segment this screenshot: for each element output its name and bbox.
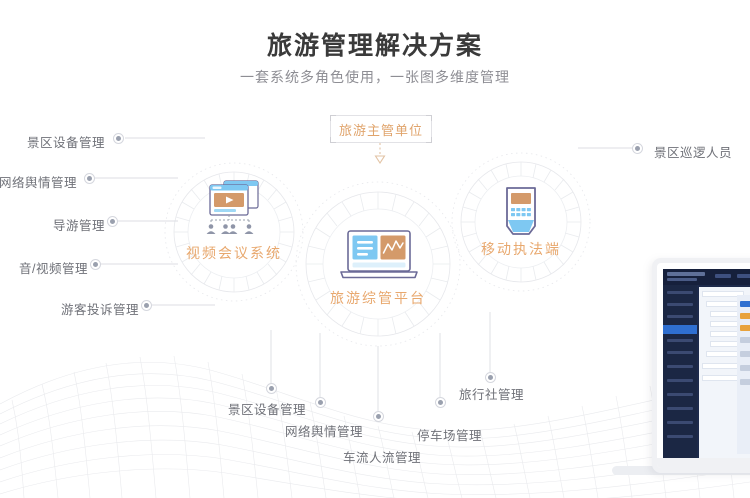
node-label-left-3: 音/视频管理 (4, 258, 88, 277)
node-label-left-4: 游客投诉管理 (54, 299, 139, 318)
node-label-bottom-0: 景区设备管理 (228, 399, 306, 418)
node-dot-bottom-0[interactable] (266, 383, 277, 394)
dashboard-device-mockup (652, 258, 750, 473)
device-status-chip-2 (740, 313, 750, 319)
device-sidebar-item-10 (667, 421, 693, 424)
node-dot-right-0[interactable] (632, 143, 643, 154)
node-label-left-1: 网络舆情管理 (0, 172, 77, 191)
node-label-bottom-3: 停车场管理 (417, 425, 482, 444)
device-status-chip-3 (740, 325, 750, 331)
mobile-device-icon (499, 186, 543, 240)
box-corner-bottom-left (330, 137, 336, 143)
device-sidebar-item-6 (667, 365, 693, 368)
device-status-chip-6 (740, 365, 750, 371)
device-sidebar-item-7 (667, 379, 693, 382)
node-dot-bottom-3[interactable] (435, 397, 446, 408)
device-sidebar-item-5 (667, 351, 693, 354)
node-dot-bottom-2[interactable] (373, 411, 384, 422)
node-label-left-0: 景区设备管理 (20, 132, 105, 151)
authority-unit-label: 旅游主管单位 (339, 120, 423, 139)
dotted-down-arrow-icon (372, 143, 388, 165)
device-sidebar-item-1 (667, 291, 693, 294)
authority-unit-box[interactable]: 旅游主管单位 (330, 115, 432, 143)
video-conference-icon (202, 177, 266, 235)
node-dot-bottom-1[interactable] (315, 397, 326, 408)
laptop-dashboard-icon (336, 230, 422, 280)
node-label-right-0: 景区巡逻人员 (654, 142, 732, 161)
node-dot-bottom-4[interactable] (485, 372, 496, 383)
page-title: 旅游管理解决方案 (0, 26, 750, 62)
node-dot-left-2[interactable] (107, 216, 118, 227)
device-bottom-bezel (657, 458, 750, 468)
device-nav-tab-1 (715, 274, 731, 278)
device-sidebar-item-2 (667, 303, 693, 306)
device-sidebar-item-active (663, 325, 697, 334)
node-label-left-2: 导游管理 (25, 215, 105, 234)
device-logo-line-2 (667, 278, 697, 281)
device-status-chip-1 (740, 301, 750, 307)
device-status-chip-5 (740, 351, 750, 357)
device-nav-tab-2 (737, 274, 750, 278)
device-topbar (663, 269, 750, 285)
device-sidebar-item-4 (667, 339, 693, 342)
device-sidebar-item-8 (667, 393, 693, 396)
device-logo-line-1 (667, 272, 705, 276)
hub-caption-mobile: 移动执法端 (466, 239, 576, 259)
node-dot-left-1[interactable] (84, 173, 95, 184)
device-sidebar-item-11 (667, 435, 693, 438)
device-status-chip-4 (740, 337, 750, 343)
box-corner-top-right (426, 115, 432, 121)
node-dot-left-0[interactable] (113, 133, 124, 144)
hub-caption-video: 视频会议系统 (174, 243, 294, 263)
device-sidebar-item-9 (667, 407, 693, 410)
box-corner-bottom-right (426, 137, 432, 143)
page-subtitle: 一套系统多角色使用，一张图多维度管理 (0, 67, 750, 87)
device-status-chip-7 (740, 379, 750, 385)
device-main-panel (699, 287, 750, 458)
box-corner-top-left (330, 115, 336, 121)
node-dot-left-3[interactable] (90, 259, 101, 270)
node-label-bottom-4: 旅行社管理 (459, 384, 524, 403)
device-sidebar-item-3 (667, 315, 693, 318)
node-label-bottom-1: 网络舆情管理 (285, 421, 363, 440)
device-sidebar (663, 285, 697, 458)
device-screen (663, 269, 750, 458)
hub-caption-platform: 旅游综管平台 (318, 288, 438, 308)
node-label-bottom-2: 车流人流管理 (343, 447, 421, 466)
node-dot-left-4[interactable] (141, 300, 152, 311)
infographic-canvas: 旅游管理解决方案 一套系统多角色使用，一张图多维度管理 (0, 0, 750, 498)
